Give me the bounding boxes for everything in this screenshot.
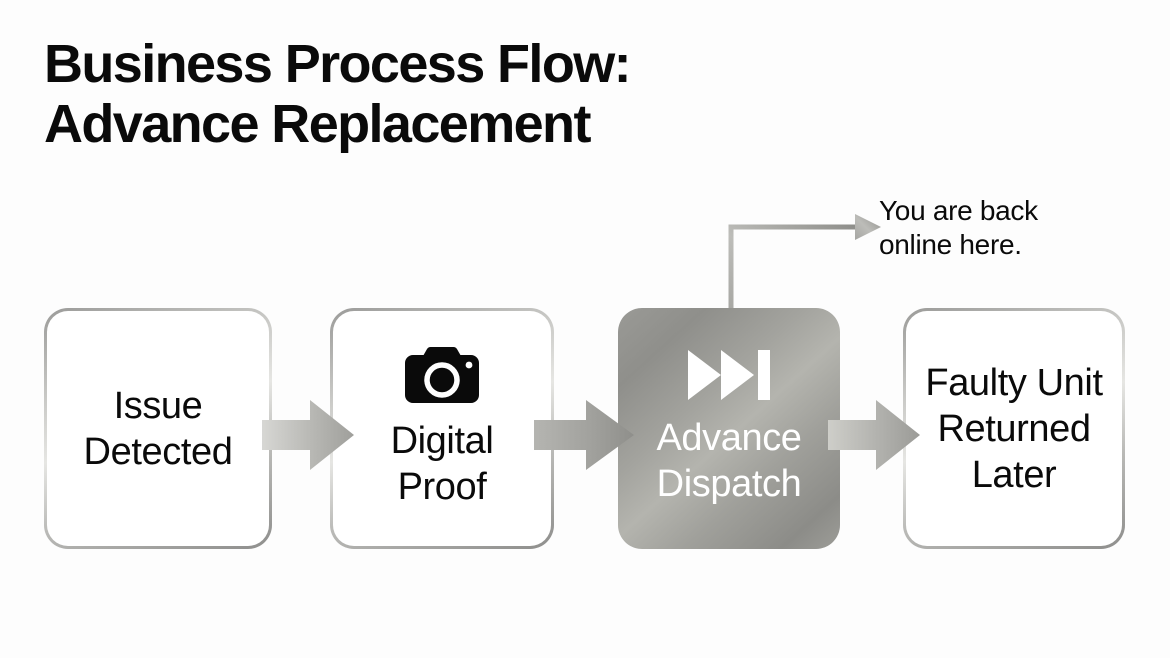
flow-node-label-line-2: Proof xyxy=(398,466,487,508)
flow-connector-arrow-3 xyxy=(828,398,920,472)
camera-icon xyxy=(405,347,479,408)
flow-node-label-line-2: Detected xyxy=(84,431,233,473)
flow-node-label-line-3: Later xyxy=(972,454,1057,496)
flow-connector-arrow-2 xyxy=(534,398,634,472)
callout-text-line-1: You are back xyxy=(879,194,1129,228)
skip-forward-icon xyxy=(688,350,770,405)
flow-node-label-line-2: Dispatch xyxy=(657,463,802,505)
flow-node-label-line-1: Faulty Unit xyxy=(925,362,1102,404)
flow-node-faulty-unit-returned-later[interactable]: Faulty Unit Returned Later xyxy=(903,308,1125,549)
flow-node-label: Faulty Unit Returned Later xyxy=(925,360,1102,498)
flow-node-advance-dispatch[interactable]: Advance Dispatch xyxy=(618,308,840,549)
flow-node-label-line-1: Digital xyxy=(391,420,494,462)
flow-node-label-line-1: Issue xyxy=(114,385,203,427)
flow-node-label: Digital Proof xyxy=(391,418,494,510)
flow-node-label-line-1: Advance xyxy=(656,417,801,459)
callout-text: You are back online here. xyxy=(879,194,1129,262)
process-flow-diagram: Issue Detected Digital xyxy=(0,0,1170,658)
callout-text-line-2: online here. xyxy=(879,228,1129,262)
flow-connector-arrow-1 xyxy=(262,398,354,472)
flow-node-label: Advance Dispatch xyxy=(656,415,801,507)
flow-node-issue-detected[interactable]: Issue Detected xyxy=(44,308,272,549)
flow-node-label: Issue Detected xyxy=(84,383,233,475)
flow-node-digital-proof[interactable]: Digital Proof xyxy=(330,308,554,549)
callout-connector-arrow xyxy=(716,210,886,320)
flow-node-label-line-2: Returned xyxy=(937,408,1090,450)
